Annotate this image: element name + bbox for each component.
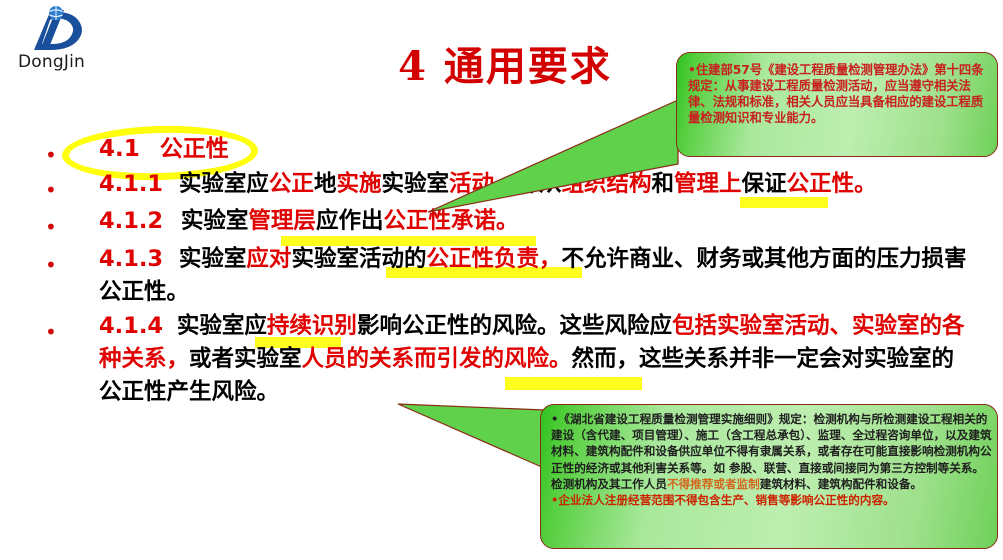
- bullet-dot-413: •: [45, 255, 57, 275]
- section-41-label: 公正性: [160, 136, 229, 162]
- slide-canvas: DongJin 4 通用要求 • 4.1 公正性 • 4.1.1 实验室应公正地…: [0, 0, 1003, 560]
- page-title: 4 通用要求: [355, 34, 655, 92]
- section-41-number: 4.1: [99, 136, 140, 162]
- bullet-dot-412: •: [45, 217, 57, 237]
- logo-text: DongJin: [18, 52, 85, 72]
- section-412-text: 实验室管理层应作出公正性承诺。: [181, 208, 519, 234]
- section-414-number: 4.1.4: [99, 313, 163, 339]
- section-414-text: 实验室应持续识别影响公正性的风险。这些风险应包括实验室活动、实验室的各种关系，或…: [99, 313, 964, 405]
- callout-bottom: •《湖北省建设工程质量检测管理实施细则》规定：检测机构与所检测建设工程相关的建设…: [540, 404, 998, 549]
- bullet-dot-41: •: [45, 145, 57, 165]
- section-411-number: 4.1.1: [99, 171, 163, 197]
- bullet-dot-411: •: [45, 180, 57, 200]
- dongjin-logo-icon: [20, 6, 110, 54]
- section-41: • 4.1 公正性: [45, 133, 229, 166]
- callout-bottom-line1-tail: 建筑材料、建筑构配件和设备。: [760, 477, 922, 491]
- callout-bottom-body: •《湖北省建设工程质量检测管理实施细则》规定：检测机构与所检测建设工程相关的建设…: [540, 404, 998, 549]
- callout-top: •住建部57号《建设工程质量检测管理办法》第十四条规定：从事建设工程质量检测活动…: [676, 52, 998, 157]
- callout-bottom-emphasis: 不得推荐或者监制: [667, 477, 760, 491]
- bullet-dot-414: •: [45, 322, 57, 342]
- section-412-number: 4.1.2: [99, 208, 163, 234]
- section-413: • 4.1.3 实验室应对实验室活动的公正性负责，不允许商业、财务或其他方面的压…: [45, 243, 975, 309]
- callout-bottom-text: •《湖北省建设工程质量检测管理实施细则》规定：检测机构与所检测建设工程相关的建设…: [551, 411, 993, 508]
- callout-top-body: •住建部57号《建设工程质量检测管理办法》第十四条规定：从事建设工程质量检测活动…: [676, 52, 998, 157]
- callout-bottom-line2: •企业法人注册经营范围不得包含生产、销售等影响公正性的内容。: [551, 493, 895, 507]
- section-414: • 4.1.4 实验室应持续识别影响公正性的风险。这些风险应包括实验室活动、实验…: [45, 310, 975, 409]
- logo: DongJin: [12, 6, 117, 76]
- section-413-text: 实验室应对实验室活动的公正性负责，不允许商业、财务或其他方面的压力损害公正性。: [99, 246, 966, 305]
- section-413-number: 4.1.3: [99, 246, 163, 272]
- callout-top-text: •住建部57号《建设工程质量检测管理办法》第十四条规定：从事建设工程质量检测活动…: [688, 62, 990, 126]
